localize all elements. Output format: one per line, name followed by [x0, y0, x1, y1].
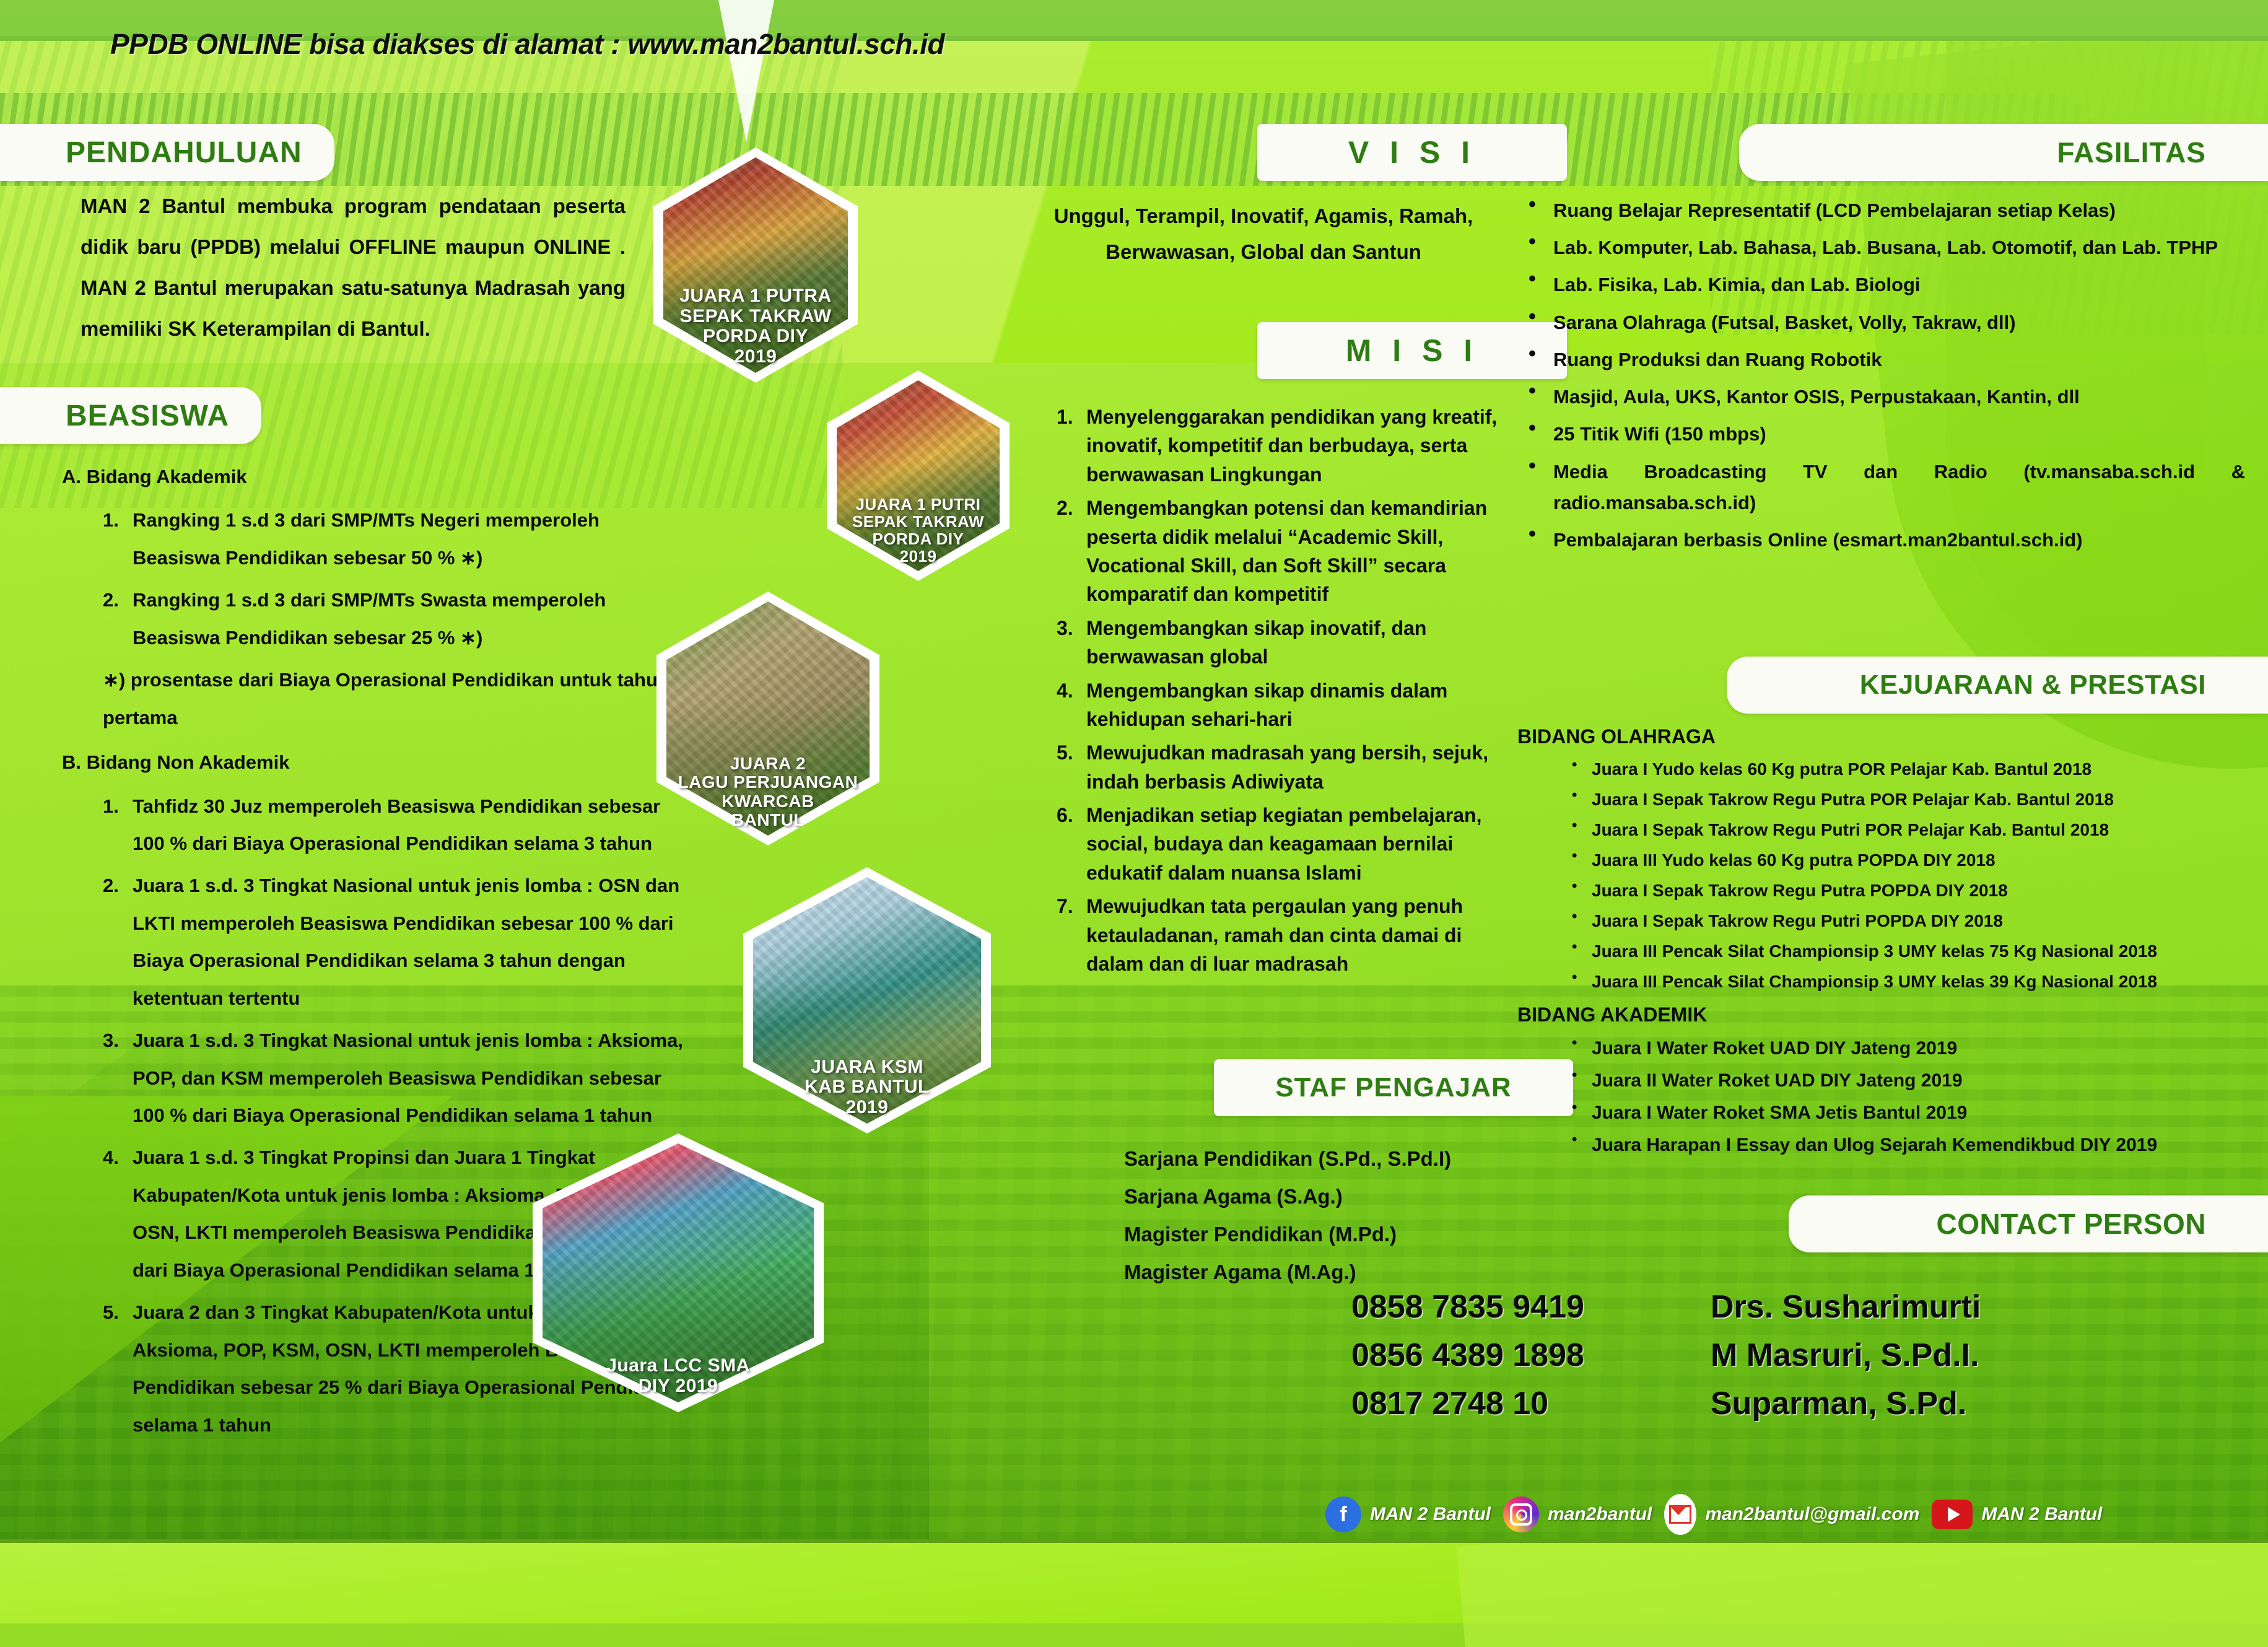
list-item: Mengembangkan sikap dinamis dalam kehidu… — [1053, 676, 1524, 734]
list-item: Juara I Sepak Takrow Regu Putra POPDA DI… — [1558, 878, 2248, 904]
social-facebook[interactable]: f MAN 2 Bantul — [1325, 1496, 1491, 1532]
list-item: Sarjana Agama (S.Ag.) — [1124, 1177, 1558, 1215]
list-item: Tahfidz 30 Juz memperoleh Beasiswa Pendi… — [99, 788, 687, 863]
fasilitas-title: FASILITAS — [2057, 136, 2206, 169]
kejuaraan-akademik-heading: BIDANG AKADEMIK — [1517, 1000, 2248, 1029]
visi-header: V I S I — [1257, 124, 1567, 181]
social-label: MAN 2 Bantul — [1370, 1504, 1491, 1525]
beasiswa-akademik-note: ∗) prosentase dari Biaya Operasional Pen… — [103, 662, 687, 736]
list-item: Lab. Komputer, Lab. Bahasa, Lab. Busana,… — [1517, 232, 2245, 263]
list-item: Juara 1 s.d. 3 Tingkat Nasional untuk je… — [99, 1022, 687, 1134]
social-label: man2bantul — [1548, 1504, 1652, 1525]
list-item: Mengembangkan potensi dan kemandirian pe… — [1053, 494, 1524, 609]
social-label: MAN 2 Bantul — [1981, 1504, 2102, 1525]
list-item: Juara I Sepak Takrow Regu Putra POR Pela… — [1558, 787, 2248, 813]
contact-phone: 0858 7835 9419 — [1351, 1288, 1711, 1326]
social-media-bar: f MAN 2 Bantul man2bantul man2bantul@gma… — [1325, 1494, 2102, 1535]
social-label: man2bantul@gmail.com — [1705, 1504, 1919, 1525]
list-item: Masjid, Aula, UKS, Kantor OSIS, Perpusta… — [1517, 382, 2245, 413]
pendahuluan-header: PENDAHULUAN — [0, 124, 334, 181]
list-item: Juara I Sepak Takrow Regu Putri POPDA DI… — [1558, 908, 2248, 934]
list-item: 25 Titik Wifi (150 mbps) — [1517, 419, 2245, 450]
kejuaraan-olahraga-list: Juara I Yudo kelas 60 Kg putra POR Pelaj… — [1558, 756, 2248, 995]
contact-name: M Masruri, S.Pd.I. — [1711, 1337, 2231, 1374]
list-item: Lab. Fisika, Lab. Kimia, dan Lab. Biolog… — [1517, 269, 2245, 300]
fasilitas-list: Ruang Belajar Representatif (LCD Pembela… — [1517, 195, 2245, 562]
email-icon — [1664, 1494, 1696, 1535]
list-item: Juara Harapan I Essay dan Ulog Sejarah K… — [1558, 1131, 2248, 1159]
list-item: Mengembangkan sikap inovatif, dan berwaw… — [1053, 614, 1524, 671]
contact-list: 0858 7835 9419 Drs. Susharimurti 0856 43… — [1351, 1288, 2231, 1433]
pendahuluan-body: MAN 2 Bantul membuka program pendataan p… — [81, 186, 626, 349]
list-item: Sarana Olahraga (Futsal, Basket, Volly, … — [1517, 307, 2245, 338]
pendahuluan-title: PENDAHULUAN — [66, 136, 302, 170]
list-item: Juara III Pencak Silat Championsip 3 UMY… — [1558, 969, 2248, 995]
bottom-banner — [0, 1539, 2268, 1647]
kejuaraan-akademik-list: Juara I Water Roket UAD DIY Jateng 2019 … — [1558, 1034, 2248, 1159]
kejuaraan-olahraga-heading: BIDANG OLAHRAGA — [1517, 722, 2248, 751]
list-item: Sarjana Pendidikan (S.Pd., S.Pd.I) — [1124, 1140, 1558, 1177]
contact-name: Suparman, S.Pd. — [1711, 1385, 2231, 1422]
list-item: Juara I Yudo kelas 60 Kg putra POR Pelaj… — [1558, 756, 2248, 782]
list-item: Juara I Sepak Takrow Regu Putri POR Pela… — [1558, 817, 2248, 843]
brochure-poster: PENDAHULUAN MAN 2 Bantul membuka program… — [0, 0, 2268, 1647]
bottom-strip — [0, 1623, 2268, 1647]
contact-row: 0858 7835 9419 Drs. Susharimurti — [1351, 1288, 2231, 1326]
facebook-icon: f — [1325, 1496, 1361, 1532]
contact-phone: 0856 4389 1898 — [1351, 1337, 1711, 1374]
list-item: Pembalajaran berbasis Online (esmart.man… — [1517, 525, 2245, 556]
social-email[interactable]: man2bantul@gmail.com — [1664, 1494, 1919, 1535]
list-item: Mewujudkan madrasah yang bersih, sejuk, … — [1053, 738, 1524, 796]
list-item: Magister Agama (M.Ag.) — [1124, 1253, 1558, 1291]
list-item: Rangking 1 s.d 3 dari SMP/MTs Negeri mem… — [99, 502, 687, 577]
youtube-icon — [1932, 1500, 1973, 1529]
kejuaraan-title: KEJUARAAN & PRESTASI — [1860, 670, 2206, 701]
staf-pengajar-list: Sarjana Pendidikan (S.Pd., S.Pd.I) Sarja… — [1124, 1140, 1558, 1291]
list-item: Menyelenggarakan pendidikan yang kreatif… — [1053, 403, 1524, 489]
list-item: Juara III Pencak Silat Championsip 3 UMY… — [1558, 938, 2248, 964]
beasiswa-header: BEASISWA — [0, 387, 261, 444]
contact-title: CONTACT PERSON — [1937, 1207, 2207, 1241]
contact-row: 0856 4389 1898 M Masruri, S.Pd.I. — [1351, 1337, 2231, 1374]
misi-title: M I S I — [1346, 333, 1478, 369]
social-youtube[interactable]: MAN 2 Bantul — [1932, 1500, 2102, 1529]
list-item: Juara 1 s.d. 3 Tingkat Nasional untuk je… — [99, 867, 687, 1017]
list-item: Juara I Water Roket UAD DIY Jateng 2019 — [1558, 1034, 2248, 1062]
list-item: Rangking 1 s.d 3 dari SMP/MTs Swasta mem… — [99, 582, 687, 657]
list-item: Ruang Produksi dan Ruang Robotik — [1517, 344, 2245, 375]
list-item: Juara I Water Roket SMA Jetis Bantul 201… — [1558, 1099, 2248, 1127]
fasilitas-header: FASILITAS — [1739, 124, 2268, 181]
contact-header: CONTACT PERSON — [1789, 1195, 2268, 1252]
beasiswa-nonakademik-heading: B. Bidang Non Akademik — [62, 744, 687, 781]
beasiswa-akademik-list: Rangking 1 s.d 3 dari SMP/MTs Negeri mem… — [99, 502, 687, 657]
beasiswa-akademik-heading: A. Bidang Akademik — [62, 458, 687, 496]
list-item: Juara II Water Roket UAD DIY Jateng 2019 — [1558, 1067, 2248, 1094]
instagram-icon — [1503, 1496, 1539, 1532]
visi-title: V I S I — [1348, 134, 1476, 170]
list-item: Menjadikan setiap kegiatan pembelajaran,… — [1053, 801, 1524, 887]
list-item: Mewujudkan tata pergaulan yang penuh ket… — [1053, 892, 1524, 978]
visi-body: Unggul, Terampil, Inovatif, Agamis, Rama… — [1028, 198, 1499, 270]
beasiswa-title: BEASISWA — [66, 399, 229, 433]
list-item: Media Broadcasting TV dan Radio (tv.mans… — [1517, 457, 2245, 518]
list-item: Ruang Belajar Representatif (LCD Pembela… — [1517, 195, 2245, 226]
contact-name: Drs. Susharimurti — [1711, 1288, 2231, 1326]
contact-row: 0817 2748 10 Suparman, S.Pd. — [1351, 1385, 2231, 1422]
staf-pengajar-title: STAF PENGAJAR — [1275, 1072, 1511, 1103]
ppdb-online-text: PPDB ONLINE bisa diakses di alamat : www… — [110, 27, 944, 61]
social-instagram[interactable]: man2bantul — [1503, 1496, 1652, 1532]
list-item: Magister Pendidikan (M.Pd.) — [1124, 1215, 1558, 1253]
kejuaraan-header: KEJUARAAN & PRESTASI — [1727, 657, 2268, 714]
misi-list: Menyelenggarakan pendidikan yang kreatif… — [1053, 403, 1524, 983]
contact-phone: 0817 2748 10 — [1351, 1385, 1711, 1422]
list-item: Juara III Yudo kelas 60 Kg putra POPDA D… — [1558, 847, 2248, 873]
kejuaraan-content: BIDANG OLAHRAGA Juara I Yudo kelas 60 Kg… — [1517, 722, 2248, 1163]
